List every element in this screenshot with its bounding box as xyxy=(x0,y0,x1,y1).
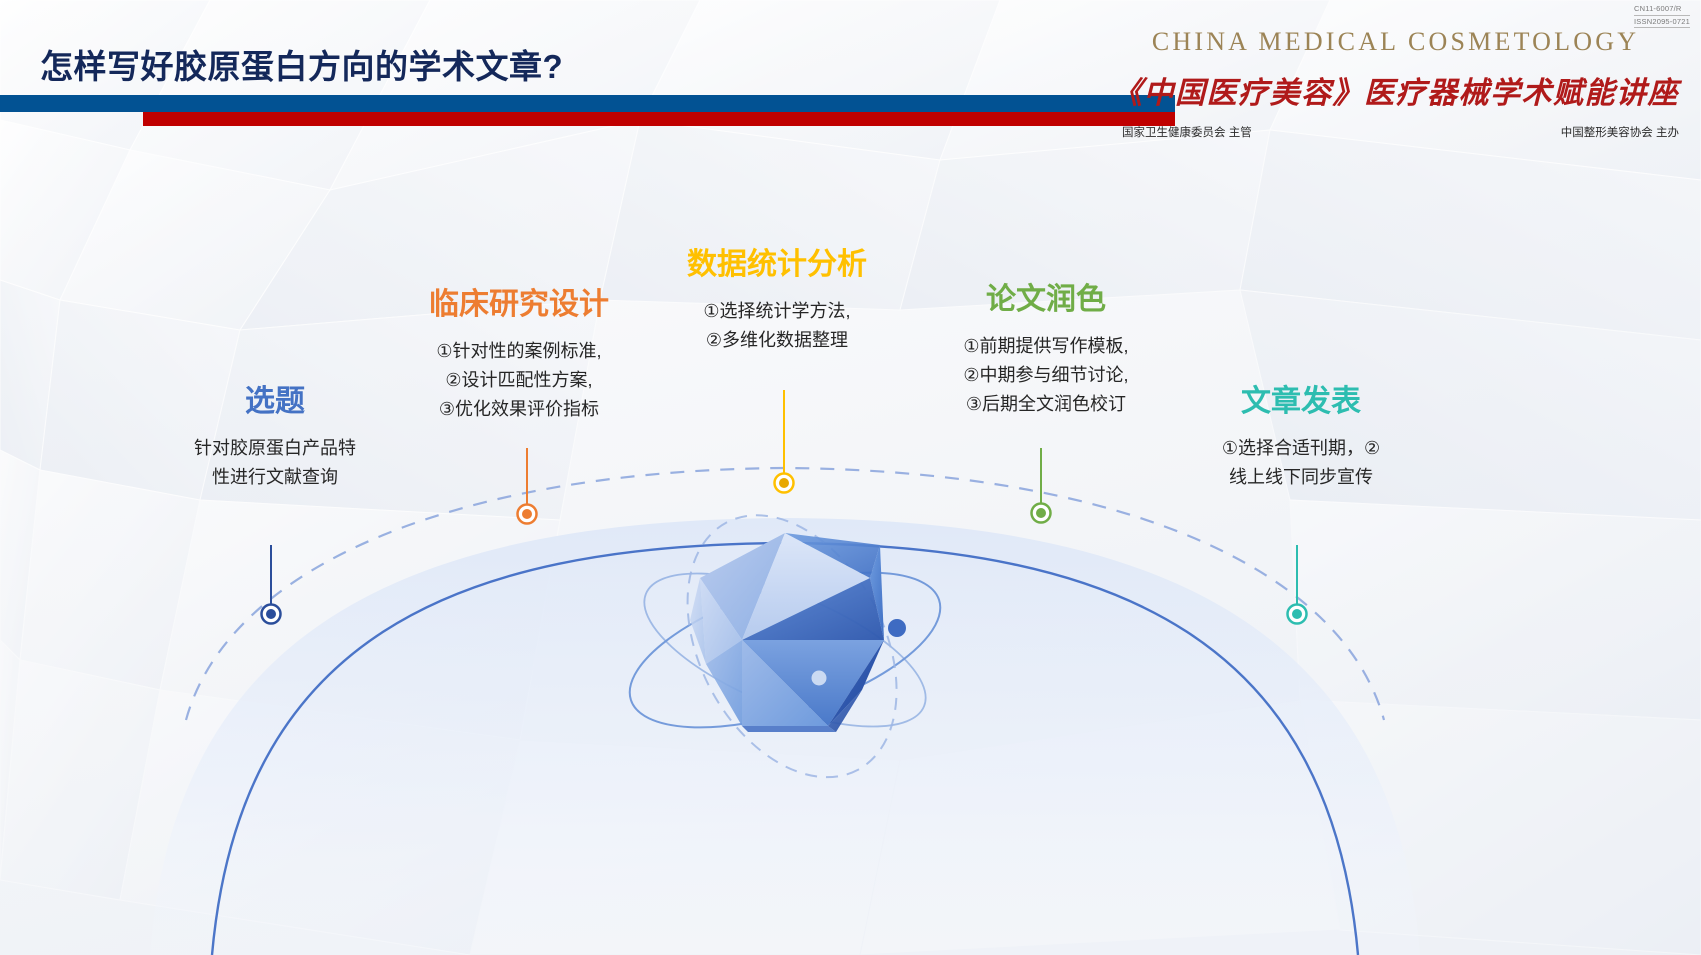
slide-header: 怎样写好胶原蛋白方向的学术文章? CN11-6007/R ISSN2095-07… xyxy=(0,0,1701,160)
step-article-publication: 文章发表 ①选择合适刊期，② 线上线下同步宣传 xyxy=(1175,385,1427,492)
step-marker-5 xyxy=(1288,605,1307,624)
step-marker-2 xyxy=(518,505,537,524)
issn-codes: CN11-6007/R ISSN2095-0721 xyxy=(1634,4,1690,29)
orbit-dot-large xyxy=(888,619,906,637)
step-data-statistics-analysis: 数据统计分析 ①选择统计学方法, ②多维化数据整理 xyxy=(648,248,906,355)
page-title: 怎样写好胶原蛋白方向的学术文章? xyxy=(40,40,563,88)
cn-code: CN11-6007/R xyxy=(1634,4,1690,16)
step-marker-1 xyxy=(262,605,281,624)
step-body: ①针对性的案例标准, ②设计匹配性方案, ③优化效果评价指标 xyxy=(388,337,650,424)
step-title: 选题 xyxy=(140,385,410,420)
step-topic-selection: 选题 针对胶原蛋白产品特 性进行文献查询 xyxy=(140,385,410,492)
supervising-organization: 国家卫生健康委员会 主管 xyxy=(1122,124,1252,140)
header-rule-red xyxy=(143,112,1175,126)
step-clinical-study-design: 临床研究设计 ①针对性的案例标准, ②设计匹配性方案, ③优化效果评价指标 xyxy=(388,288,650,424)
step-manuscript-polishing: 论文润色 ①前期提供写作模板, ②中期参与细节讨论, ③后期全文润色校订 xyxy=(912,283,1180,419)
step-body: ①选择统计学方法, ②多维化数据整理 xyxy=(648,297,906,355)
journal-branding: CN11-6007/R ISSN2095-0721 CHINA MEDICAL … xyxy=(1090,0,1701,155)
host-organization: 中国整形美容协会 主办 xyxy=(1561,124,1679,140)
step-marker-4 xyxy=(1032,504,1051,523)
orbit-dot-small xyxy=(812,671,827,686)
step-title: 临床研究设计 xyxy=(388,288,650,323)
step-body: ①前期提供写作模板, ②中期参与细节讨论, ③后期全文润色校订 xyxy=(912,332,1180,419)
step-body: 针对胶原蛋白产品特 性进行文献查询 xyxy=(140,434,410,492)
header-rule-blue xyxy=(0,95,1175,112)
step-body: ①选择合适刊期，② 线上线下同步宣传 xyxy=(1175,434,1427,492)
step-title: 文章发表 xyxy=(1175,385,1427,420)
step-title: 数据统计分析 xyxy=(648,248,906,283)
step-title: 论文润色 xyxy=(912,283,1180,318)
journal-name-chinese: 《中国医疗美容》医疗器械学术赋能讲座 xyxy=(1090,68,1701,112)
step-marker-3 xyxy=(775,474,794,493)
journal-name-english: CHINA MEDICAL COSMETOLOGY xyxy=(1090,27,1701,57)
